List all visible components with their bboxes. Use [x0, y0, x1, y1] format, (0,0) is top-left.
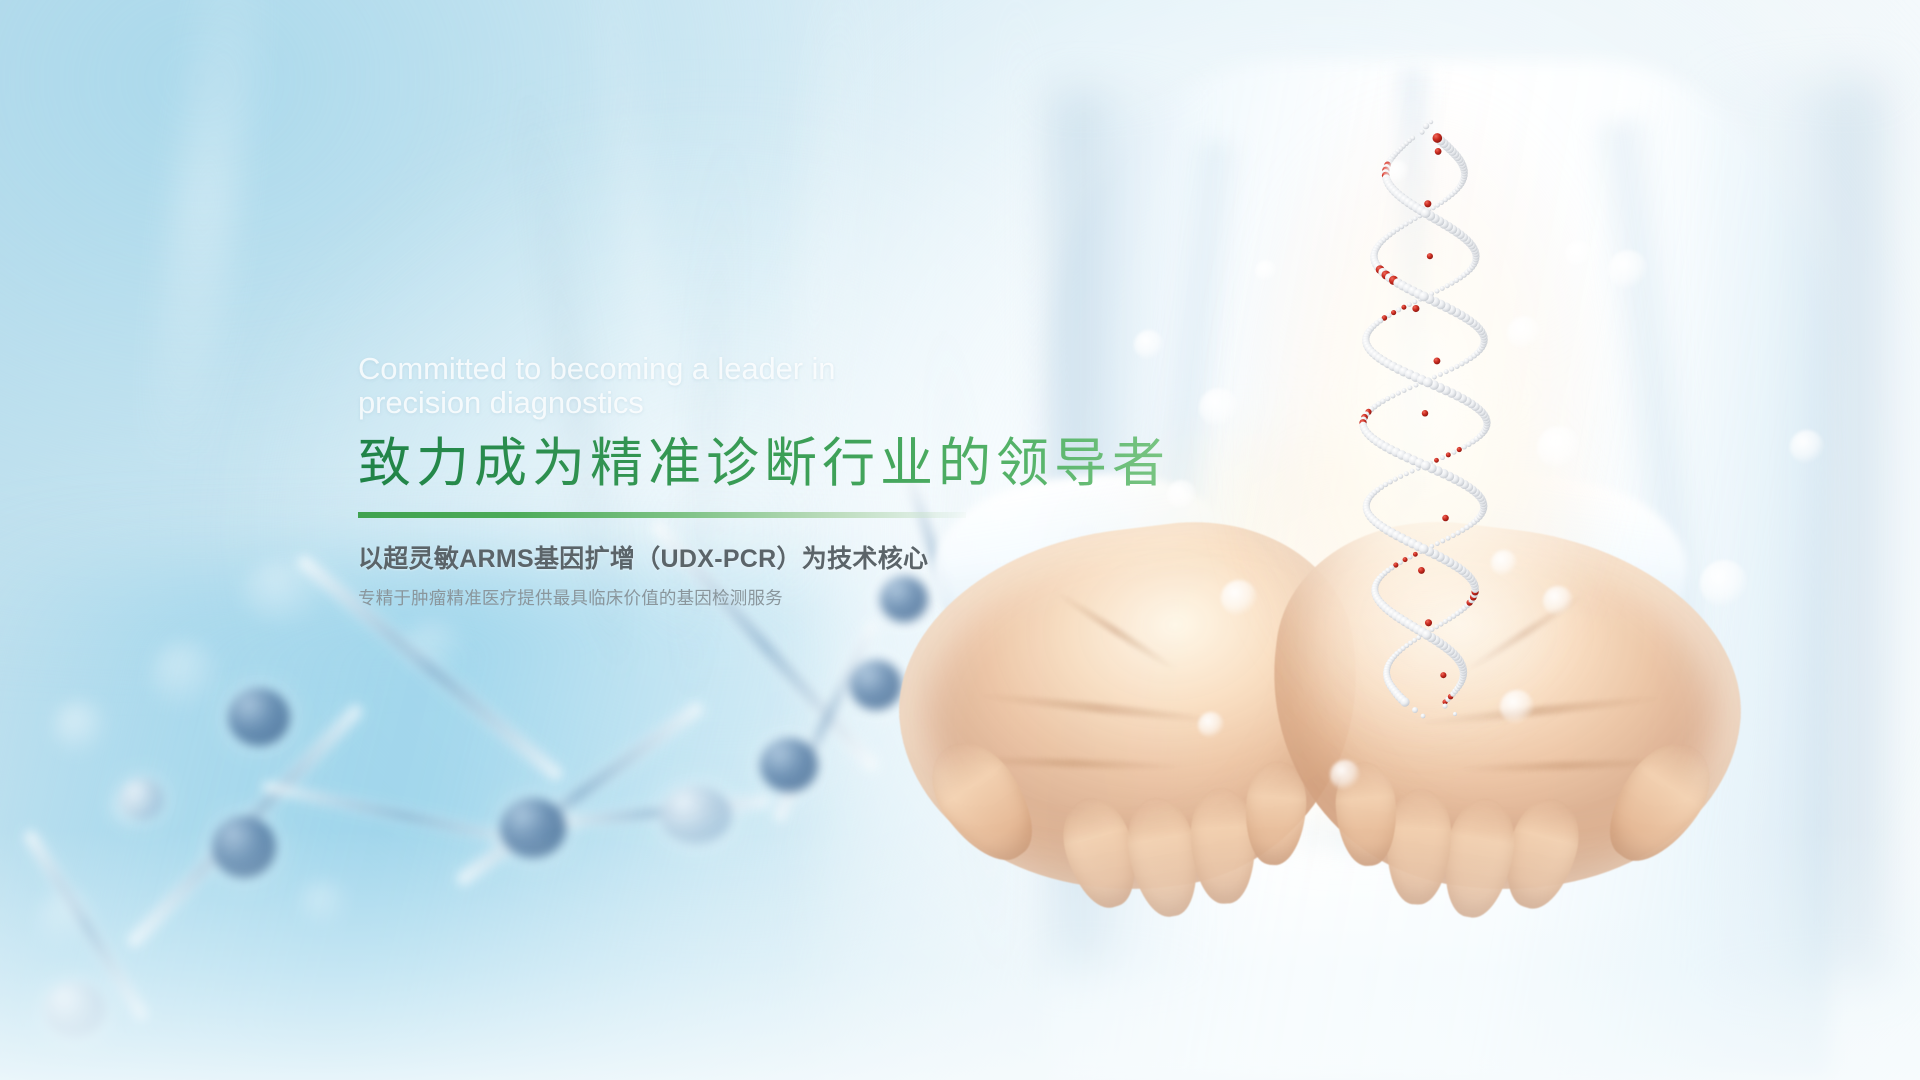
bokeh-light-particle — [1500, 690, 1534, 724]
background-bottom-fade — [0, 830, 1920, 1080]
hero-copy-block: Committed to becoming a leader in precis… — [358, 352, 1178, 609]
bokeh-light-particle — [240, 560, 330, 624]
bokeh-light-particle — [1700, 560, 1748, 608]
dna-helix-svg — [1295, 120, 1555, 720]
bokeh-light-particle — [110, 790, 150, 830]
subheadline: 以超灵敏ARMS基因扩增（UDX-PCR）为技术核心 — [358, 544, 1178, 574]
description-text: 专精于肿瘤精准医疗提供最具临床价值的基因检测服务 — [358, 587, 1178, 609]
bokeh-light-particle — [1198, 712, 1224, 738]
bokeh-light-particle — [52, 700, 108, 756]
bokeh-light-particle — [1608, 250, 1648, 290]
hero-banner: Committed to becoming a leader in precis… — [0, 0, 1920, 1080]
bokeh-light-particle — [1790, 430, 1824, 464]
title-divider — [358, 512, 966, 518]
english-tagline: Committed to becoming a leader in precis… — [358, 352, 1178, 420]
bokeh-light-particle — [1330, 760, 1360, 790]
page-title: 致力成为精准诊断行业的领导者 — [358, 434, 1178, 494]
bokeh-light-particle — [150, 640, 222, 712]
bokeh-light-particle — [400, 620, 470, 672]
dna-double-helix-icon — [1295, 120, 1555, 720]
